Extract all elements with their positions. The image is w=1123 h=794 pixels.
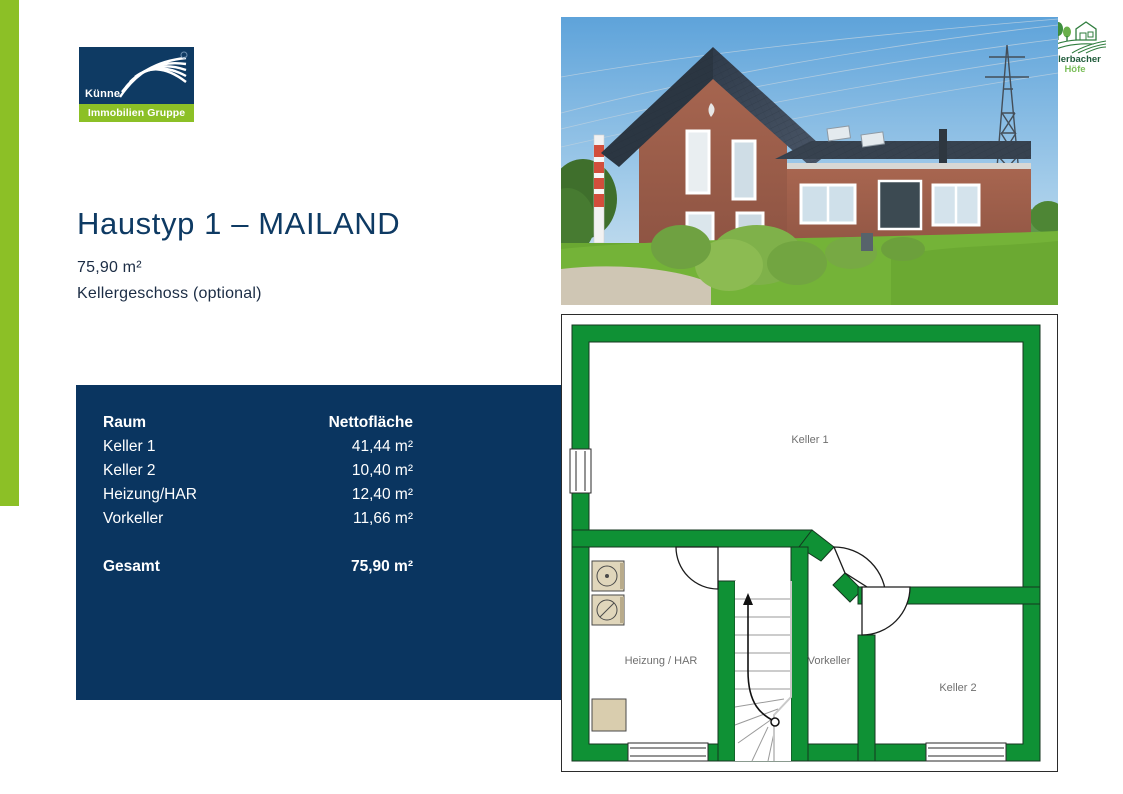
building-curves-icon bbox=[114, 49, 192, 102]
kuenne-logo-mark-box: Künne bbox=[79, 47, 194, 104]
staircase bbox=[735, 581, 791, 761]
row-room-area: 12,40 m² bbox=[352, 483, 413, 507]
floor-subtitle: Kellergeschoss (optional) bbox=[77, 285, 262, 303]
kuenne-logo: Künne Immobilien Gruppe bbox=[79, 47, 194, 122]
kuenne-wordmark: Künne bbox=[85, 89, 120, 100]
table-row: Heizung/HAR 12,40 m² bbox=[103, 483, 413, 507]
floorplan: Keller 1 Heizung / HAR Vorkeller Keller … bbox=[561, 314, 1058, 772]
room-label-heizung-har: Heizung / HAR bbox=[625, 655, 698, 667]
row-room-area: 41,44 m² bbox=[352, 435, 413, 459]
table-row: Keller 1 41,44 m² bbox=[103, 435, 413, 459]
table-row: Keller 2 10,40 m² bbox=[103, 459, 413, 483]
row-room-name: Vorkeller bbox=[103, 507, 163, 531]
brochure-page: Künne Immobilien Gruppe Ellerbacher Höfe… bbox=[0, 0, 1123, 794]
total-area-subtitle: 75,90 m² bbox=[77, 259, 142, 277]
left-accent-bar bbox=[0, 0, 19, 506]
column-header-room: Raum bbox=[103, 411, 146, 435]
table-body: Raum Nettofläche Keller 1 41,44 m² Kelle… bbox=[103, 411, 413, 579]
room-area-table: Raum Nettofläche Keller 1 41,44 m² Kelle… bbox=[76, 385, 563, 700]
page-title: Haustyp 1 – MAILAND bbox=[77, 206, 400, 242]
house-photo-image bbox=[561, 17, 1058, 305]
room-label-keller-2: Keller 2 bbox=[939, 682, 976, 694]
house-photo bbox=[561, 17, 1058, 305]
table-row: Vorkeller 11,66 m² bbox=[103, 507, 413, 531]
row-room-area: 10,40 m² bbox=[352, 459, 413, 483]
row-room-name: Keller 1 bbox=[103, 435, 156, 459]
room-label-keller-1: Keller 1 bbox=[791, 434, 828, 446]
kuenne-tagline: Immobilien Gruppe bbox=[79, 104, 194, 122]
row-room-name: Keller 2 bbox=[103, 459, 156, 483]
table-header-row: Raum Nettofläche bbox=[103, 411, 413, 435]
total-area: 75,90 m² bbox=[351, 555, 413, 579]
row-room-area: 11,66 m² bbox=[353, 507, 413, 531]
total-label: Gesamt bbox=[103, 555, 160, 579]
table-total-row: Gesamt 75,90 m² bbox=[103, 555, 413, 579]
floorplan-drawing: Keller 1 Heizung / HAR Vorkeller Keller … bbox=[562, 315, 1057, 771]
room-label-vorkeller: Vorkeller bbox=[808, 655, 851, 667]
row-room-name: Heizung/HAR bbox=[103, 483, 197, 507]
column-header-area: Nettofläche bbox=[329, 411, 413, 435]
